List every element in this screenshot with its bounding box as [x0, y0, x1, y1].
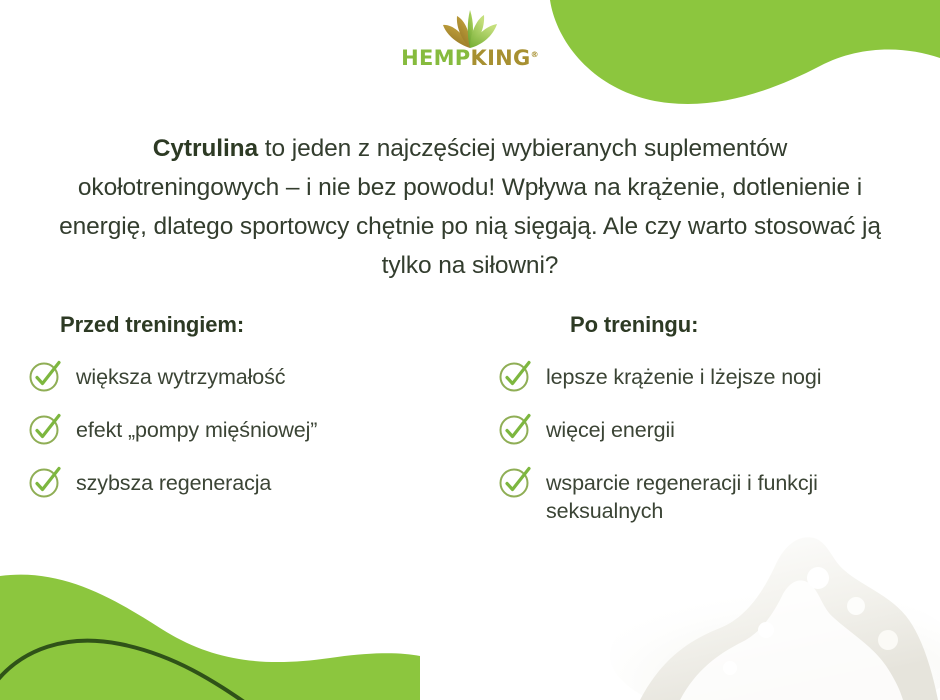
check-circle-icon	[28, 359, 62, 393]
check-circle-icon	[498, 465, 532, 499]
brand-logo: HEMPKING®	[0, 8, 940, 70]
brand-wordmark: HEMPKING®	[401, 48, 539, 69]
column-heading-after-training: Po treningu:	[570, 312, 940, 338]
benefit-list-before-training: większa wytrzymałość efekt „pompy mięśni…	[60, 362, 470, 499]
list-item: więcej energii	[570, 415, 940, 446]
benefit-label: szybsza regeneracja	[76, 468, 271, 497]
intro-paragraph: Cytrulina to jeden z najczęściej wybiera…	[52, 129, 888, 285]
benefits-column-before-training: Przed treningiem: większa wytrzymałość e…	[0, 312, 470, 525]
benefit-list-after-training: lepsze krążenie i lżejsze nogi więcej en…	[570, 362, 940, 525]
check-circle-icon	[28, 412, 62, 446]
green-wave-bottom-left	[0, 540, 420, 700]
check-circle-icon	[498, 359, 532, 393]
intro-lead-bold: Cytrulina	[153, 135, 258, 162]
infographic-canvas: HEMPKING® Cytrulina to jeden z najczęści…	[0, 0, 940, 700]
check-circle-icon	[28, 465, 62, 499]
brand-name-hemp: HEMP	[401, 46, 470, 70]
benefits-columns: Przed treningiem: większa wytrzymałość e…	[0, 312, 940, 525]
list-item: wsparcie regeneracji i funkcji seksualny…	[570, 468, 940, 525]
benefit-label: większa wytrzymałość	[76, 362, 285, 391]
benefit-label: więcej energii	[546, 415, 675, 444]
benefit-label: lepsze krążenie i lżejsze nogi	[546, 362, 821, 391]
benefit-label: wsparcie regeneracji i funkcji seksualny…	[546, 468, 940, 525]
column-heading-before-training: Przed treningiem:	[60, 312, 470, 338]
brand-name-king: KING	[471, 46, 531, 70]
list-item: większa wytrzymałość	[60, 362, 470, 393]
list-item: efekt „pompy mięśniowej”	[60, 415, 470, 446]
benefits-column-after-training: Po treningu: lepsze krążenie i lżejsze n…	[470, 312, 940, 525]
hemp-leaf-icon	[434, 8, 506, 50]
registered-trademark-mark: ®	[531, 50, 539, 59]
list-item: lepsze krążenie i lżejsze nogi	[570, 362, 940, 393]
benefit-label: efekt „pompy mięśniowej”	[76, 415, 317, 444]
check-circle-icon	[498, 412, 532, 446]
list-item: szybsza regeneracja	[60, 468, 470, 499]
dark-green-arc-line	[0, 641, 250, 700]
